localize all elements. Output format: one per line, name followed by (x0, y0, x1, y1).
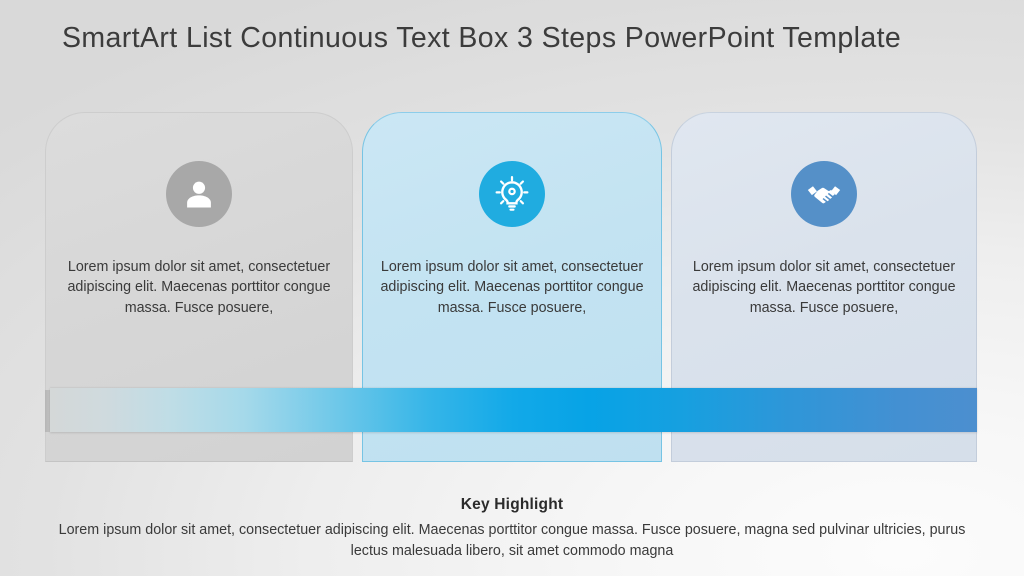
footer-title: Key Highlight (0, 496, 1024, 514)
person-icon (166, 161, 232, 227)
slide-canvas: SmartArt List Continuous Text Box 3 Step… (0, 0, 1024, 576)
footer-text: Lorem ipsum dolor sit amet, consectetuer… (0, 520, 1024, 561)
handshake-icon (791, 161, 857, 227)
page-title: SmartArt List Continuous Text Box 3 Step… (62, 22, 901, 55)
step-card-2-text: Lorem ipsum dolor sit amet, consectetuer… (377, 257, 647, 318)
step-card-1-text: Lorem ipsum dolor sit amet, consectetuer… (60, 257, 338, 318)
step-card-3-text: Lorem ipsum dolor sit amet, consectetuer… (686, 257, 962, 318)
footer: Key Highlight Lorem ipsum dolor sit amet… (0, 496, 1024, 561)
gradient-bar (50, 388, 977, 432)
lightbulb-icon (479, 161, 545, 227)
